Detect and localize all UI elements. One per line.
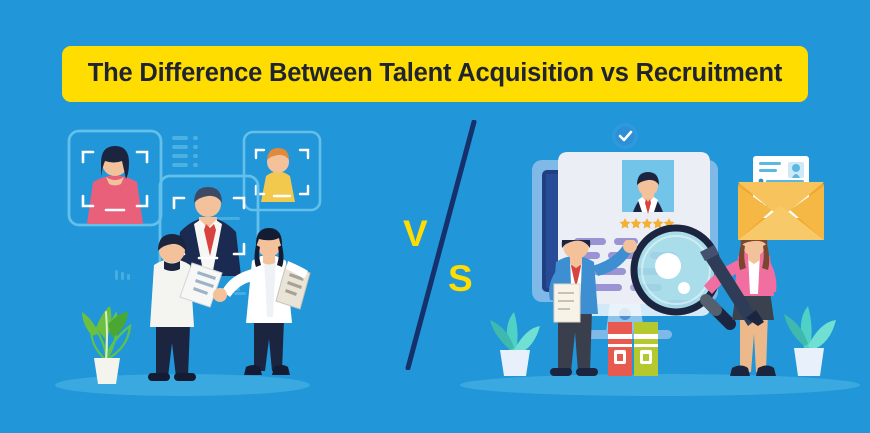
vs-letter-s: S — [448, 260, 473, 297]
resume-photo — [622, 160, 674, 214]
right-people-group — [488, 240, 848, 395]
banner-illustration: V S — [0, 0, 870, 433]
left-scene-label: Talent Acquisition — [0, 0, 1, 1]
right-scene-label: Recruitment — [0, 0, 1, 1]
recruiter-back — [148, 234, 222, 381]
decor-list-marks — [172, 136, 198, 167]
analyst-woman — [700, 240, 776, 376]
check-circle-icon — [612, 123, 638, 149]
vs-divider: V S — [386, 120, 496, 370]
left-people-group — [130, 215, 330, 395]
candidate-frame-1 — [69, 131, 161, 225]
candidate-frame-3 — [244, 132, 320, 210]
binders — [608, 322, 658, 376]
plant-right-right-scene — [784, 306, 836, 376]
recruiter-woman — [213, 228, 310, 375]
title-banner: The Difference Between Talent Acquisitio… — [62, 46, 808, 102]
vs-letter-v: V — [403, 215, 428, 252]
held-paper — [554, 284, 580, 322]
plant-left-right-scene — [490, 312, 540, 376]
page-title: The Difference Between Talent Acquisitio… — [88, 61, 782, 87]
envelope — [738, 156, 824, 240]
